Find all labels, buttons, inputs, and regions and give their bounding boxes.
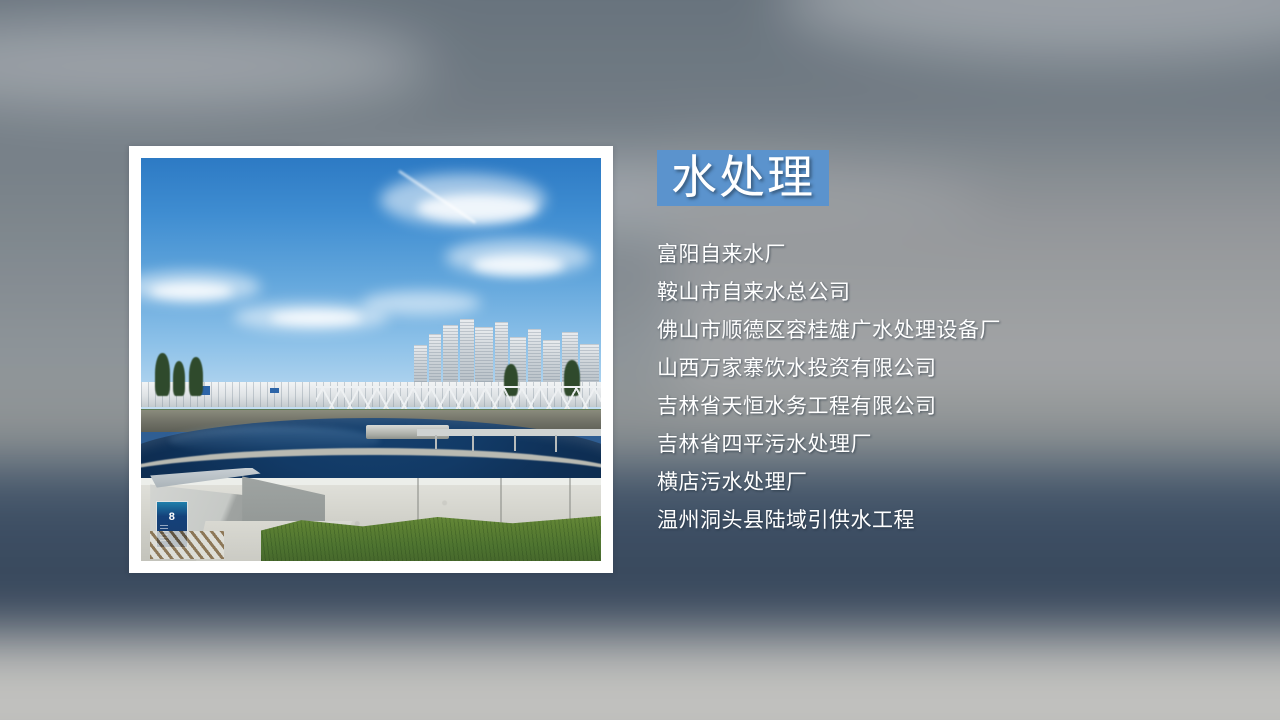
drain-grate bbox=[150, 531, 224, 559]
list-item: 横店污水处理厂 bbox=[657, 463, 1257, 501]
photo-card: 8 bbox=[129, 146, 613, 573]
tree bbox=[155, 353, 170, 396]
tree bbox=[173, 361, 185, 396]
water-treatment-plant-photo: 8 bbox=[141, 158, 601, 561]
walkway-support bbox=[435, 435, 437, 449]
content-panel: 水处理 富阳自来水厂 鞍山市自来水总公司 佛山市顺德区容桂雄广水处理设备厂 山西… bbox=[657, 150, 1257, 539]
list-item: 佛山市顺德区容桂雄广水处理设备厂 bbox=[657, 311, 1257, 349]
walkway-support bbox=[555, 435, 557, 452]
basin-walkway bbox=[417, 429, 601, 436]
walkway-support bbox=[514, 435, 516, 451]
truss-bridge bbox=[316, 386, 601, 412]
cloud bbox=[150, 283, 233, 299]
page-title: 水处理 bbox=[671, 150, 815, 204]
sign-number: 8 bbox=[157, 512, 187, 523]
list-item: 富阳自来水厂 bbox=[657, 235, 1257, 273]
list-item: 吉林省四平污水处理厂 bbox=[657, 425, 1257, 463]
list-item: 吉林省天恒水务工程有限公司 bbox=[657, 387, 1257, 425]
customer-list: 富阳自来水厂 鞍山市自来水总公司 佛山市顺德区容桂雄广水处理设备厂 山西万家寨饮… bbox=[657, 235, 1257, 539]
list-item: 温州洞头县陆域引供水工程 bbox=[657, 501, 1257, 539]
tree bbox=[189, 357, 203, 396]
background-wall bbox=[0, 632, 1280, 720]
cloud bbox=[362, 291, 482, 315]
truss-web bbox=[316, 386, 601, 412]
list-item: 山西万家寨饮水投资有限公司 bbox=[657, 349, 1257, 387]
cloud bbox=[472, 255, 564, 275]
walkway-support bbox=[472, 435, 474, 450]
list-item: 鞍山市自来水总公司 bbox=[657, 273, 1257, 311]
title-highlight-box: 水处理 bbox=[657, 150, 829, 206]
